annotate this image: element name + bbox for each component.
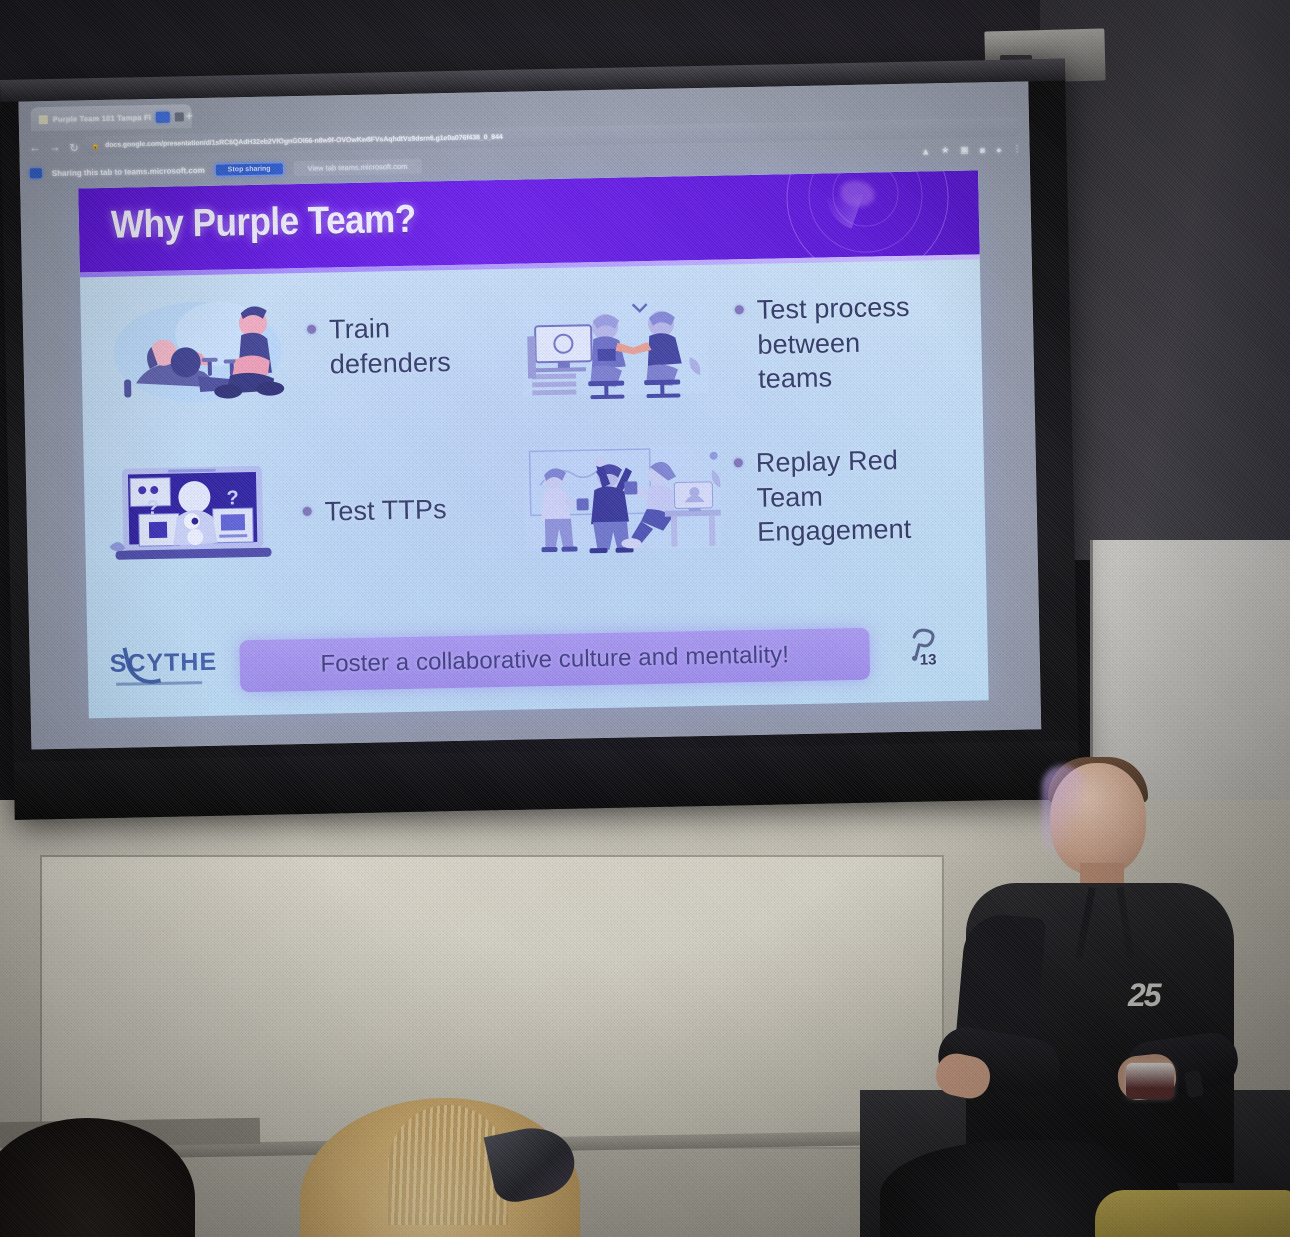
svg-text:?: ? bbox=[146, 497, 159, 519]
screen-surface: Purple Team 101 Tampa Fl + ← → ↻ 🔒 docs.… bbox=[18, 81, 1041, 749]
two-people-seated-discussion-desk-illustration bbox=[520, 291, 708, 405]
screen-share-icon bbox=[30, 168, 42, 178]
presenter-face-light bbox=[1042, 765, 1086, 857]
slide-callout-banner: Foster a collaborative culture and menta… bbox=[239, 628, 870, 693]
scythe-underline bbox=[116, 681, 202, 686]
audience-shoulder-yellow bbox=[1095, 1190, 1290, 1237]
new-tab-button[interactable]: + bbox=[183, 109, 196, 122]
bullet-train-defenders: Train defenders bbox=[307, 309, 500, 382]
right-wall-panel bbox=[1040, 0, 1290, 560]
projection-screen: Purple Team 101 Tampa Fl + ← → ↻ 🔒 docs.… bbox=[0, 59, 1080, 820]
reload-icon[interactable]: ↻ bbox=[69, 141, 78, 154]
bullet-cell-test-process: Test process between teams bbox=[520, 266, 973, 425]
slide-body: Train defenders bbox=[80, 265, 987, 633]
tab-title: Purple Team 101 Tampa Fl bbox=[53, 112, 151, 123]
bullet-cell-replay-red-team: Replay Red Team Engagement bbox=[523, 424, 976, 573]
bullet-dot-icon bbox=[734, 458, 743, 467]
view-tab-button[interactable]: View tab teams.microsoft.com bbox=[293, 158, 421, 176]
callout-text: Foster a collaborative culture and menta… bbox=[320, 641, 789, 678]
three-people-whiteboard-collaboration-illustration bbox=[523, 441, 721, 560]
stop-sharing-button[interactable]: Stop sharing bbox=[215, 162, 284, 176]
bullet-dot-icon bbox=[303, 507, 312, 516]
share-message: Sharing this tab to teams.microsoft.com bbox=[52, 165, 205, 177]
bullet-test-ttps: Test TTPs bbox=[302, 492, 447, 529]
slide-title: Why Purple Team? bbox=[111, 198, 417, 248]
two-people-training-workout-illustration bbox=[100, 288, 288, 412]
wall-texture bbox=[1040, 0, 1290, 560]
bullet-text: Test process between teams bbox=[756, 290, 918, 397]
bullet-text: Replay Red Team Engagement bbox=[755, 443, 932, 550]
bullet-cell-test-ttps: ? ? Test TTPs bbox=[107, 442, 530, 580]
back-icon[interactable]: ← bbox=[29, 142, 40, 154]
conference-room-photo: Purple Team 101 Tampa Fl + ← → ↻ 🔒 docs.… bbox=[0, 0, 1290, 1237]
browser-window: Purple Team 101 Tampa Fl + ← → ↻ 🔒 docs.… bbox=[18, 81, 1041, 749]
presentation-clicker bbox=[1126, 1063, 1174, 1099]
slide-footer-page: 13 bbox=[897, 627, 966, 674]
google-slides-slide[interactable]: Why Purple Team? bbox=[78, 170, 988, 718]
lock-icon: 🔒 bbox=[91, 142, 100, 150]
bullet-text: Test TTPs bbox=[324, 492, 447, 529]
slides-favicon-icon bbox=[39, 115, 48, 124]
presenter: 25 bbox=[930, 755, 1260, 1175]
bullet-dot-icon bbox=[735, 305, 744, 314]
bullet-cell-train-defenders: Train defenders bbox=[100, 279, 523, 417]
bullet-dot-icon bbox=[307, 325, 316, 334]
url-text: docs.google.com/presentation/d/1sRC6QAdH… bbox=[105, 134, 503, 149]
forward-icon[interactable]: → bbox=[49, 142, 60, 154]
laptop-with-question-marks-illustration: ? ? bbox=[108, 457, 286, 571]
bullet-test-process: Test process between teams bbox=[734, 290, 918, 397]
cast-badge-icon[interactable] bbox=[156, 111, 170, 122]
svg-text:?: ? bbox=[226, 487, 239, 509]
presenter-shirt-logo: 25 bbox=[1128, 977, 1184, 1017]
bullet-text: Train defenders bbox=[329, 309, 500, 381]
browser-tab[interactable]: Purple Team 101 Tampa Fl bbox=[31, 104, 193, 131]
page-number: 13 bbox=[920, 651, 937, 668]
bullet-replay-red-team: Replay Red Team Engagement bbox=[734, 443, 933, 551]
scythe-logo: SCYTHE bbox=[109, 648, 202, 690]
